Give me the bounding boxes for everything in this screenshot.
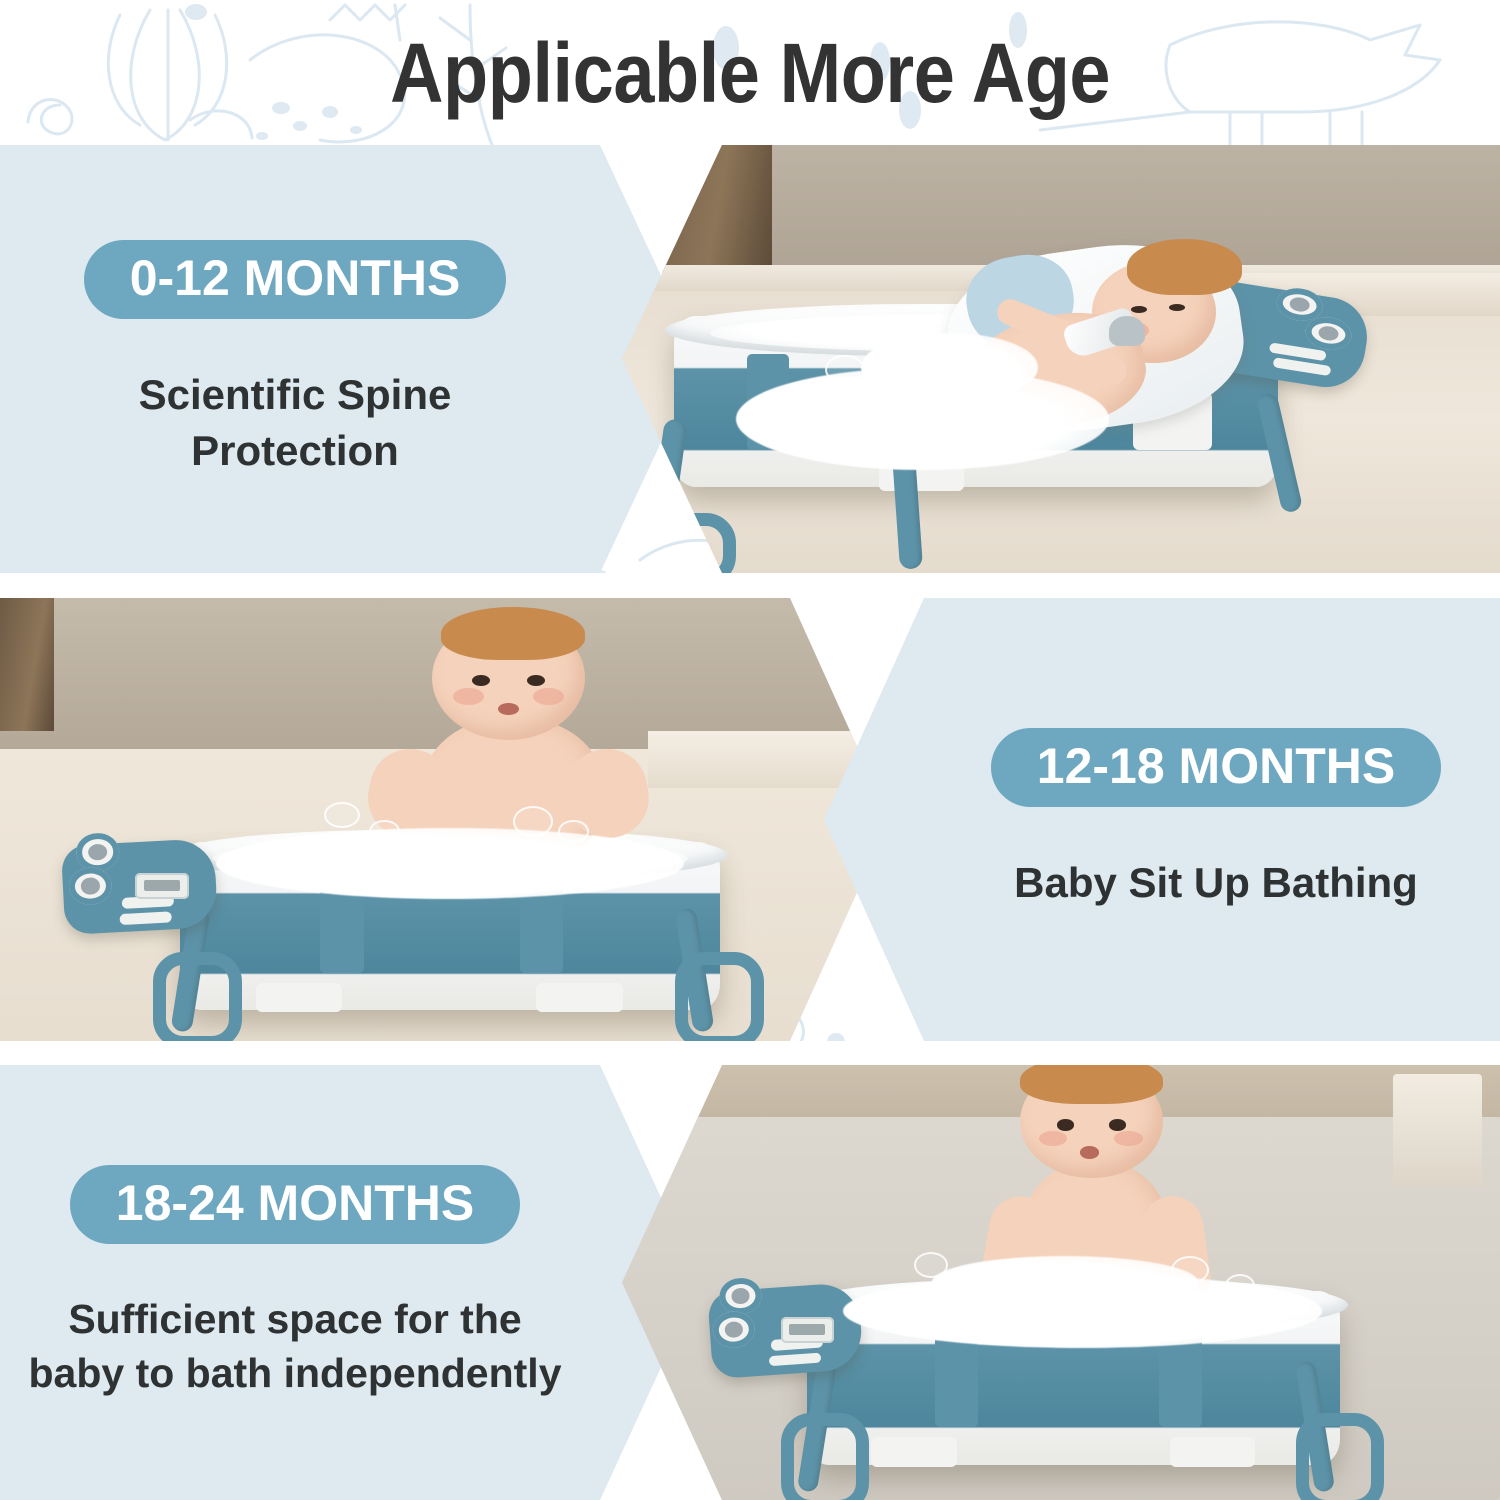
wood-cabinet bbox=[630, 145, 772, 273]
baby-cheek bbox=[453, 688, 484, 705]
baby-hair bbox=[1020, 1065, 1162, 1104]
tub-foot bbox=[781, 1413, 869, 1500]
baby-mouth bbox=[1080, 1146, 1098, 1158]
soap-bubble bbox=[914, 1252, 948, 1278]
frog-slot bbox=[1273, 358, 1332, 377]
furniture-leg bbox=[1393, 1074, 1482, 1187]
frog-slot bbox=[769, 1352, 821, 1366]
baby-cheek bbox=[1039, 1131, 1067, 1147]
bathroom-scene bbox=[612, 1065, 1500, 1500]
bath-foam bbox=[932, 1256, 1198, 1308]
soap-bubble bbox=[941, 393, 998, 436]
baby-hair bbox=[441, 607, 585, 660]
photo-0-12-months bbox=[612, 145, 1500, 573]
baby-hair bbox=[1127, 239, 1242, 295]
text-panel-18-24-months: 18-24 MONTHS Sufficient space for the ba… bbox=[0, 1065, 700, 1500]
soap-bubble bbox=[558, 820, 589, 844]
bathroom-scene bbox=[0, 598, 900, 1041]
thermometer-display bbox=[781, 1317, 834, 1343]
age-badge-18-24-months: 18-24 MONTHS bbox=[70, 1165, 520, 1244]
baby-eye bbox=[1131, 306, 1147, 313]
caption-0-12-months: Scientific Spine Protection bbox=[125, 367, 466, 478]
baby-eye bbox=[527, 675, 545, 686]
frog-eye bbox=[76, 832, 121, 871]
frog-eye bbox=[711, 1310, 756, 1349]
soap-bubble bbox=[887, 385, 935, 423]
section-row-0-12-months: 0-12 MONTHS Scientific Spine Protection bbox=[0, 145, 1500, 573]
page-header: Applicable More Age bbox=[0, 0, 1500, 145]
bottle-cap bbox=[1109, 316, 1145, 346]
text-panel-12-18-months: 12-18 MONTHS Baby Sit Up Bathing bbox=[812, 598, 1500, 1041]
baby-cheek bbox=[1114, 1131, 1142, 1147]
section-row-12-18-months: 12-18 MONTHS Baby Sit Up Bathing bbox=[0, 598, 1500, 1041]
row-divider bbox=[0, 573, 1500, 598]
caption-line: Baby Sit Up Bathing bbox=[1014, 855, 1418, 910]
age-badge-0-12-months: 0-12 MONTHS bbox=[84, 240, 507, 319]
tub-white-block bbox=[256, 983, 342, 1012]
soap-bubble bbox=[1225, 1274, 1256, 1297]
caption-line: Protection bbox=[139, 423, 452, 478]
caption-18-24-months: Sufficient space for the baby to bath in… bbox=[14, 1292, 575, 1400]
frog-slot bbox=[119, 911, 172, 924]
tub-white-block bbox=[1170, 1437, 1255, 1467]
baby-mouth bbox=[498, 703, 519, 715]
baby-eye bbox=[472, 675, 490, 686]
age-badge-12-18-months: 12-18 MONTHS bbox=[991, 728, 1441, 807]
frog-eye bbox=[1303, 314, 1354, 353]
bath-foam bbox=[216, 828, 684, 899]
soap-bubble bbox=[825, 355, 865, 385]
bathroom-scene bbox=[612, 145, 1500, 573]
soap-bubble bbox=[513, 806, 553, 837]
row-divider bbox=[0, 1041, 1500, 1065]
caption-line: Sufficient space for the bbox=[28, 1292, 561, 1346]
frog-eye bbox=[68, 866, 113, 905]
caption-line: Scientific Spine bbox=[139, 367, 452, 422]
baby-cheek bbox=[533, 688, 564, 705]
thermometer-display bbox=[135, 873, 189, 900]
soap-bubble bbox=[324, 802, 360, 828]
baby-eye bbox=[1169, 304, 1185, 311]
tub-foot bbox=[153, 952, 242, 1041]
tub-white-block bbox=[871, 1437, 956, 1467]
baby-eye bbox=[1057, 1119, 1074, 1130]
soap-bubble bbox=[369, 820, 400, 844]
tub-foot bbox=[1296, 1413, 1384, 1500]
wood-cabinet bbox=[0, 598, 54, 731]
page-title: Applicable More Age bbox=[390, 31, 1110, 115]
photo-12-18-months bbox=[0, 598, 900, 1041]
tub-foot bbox=[630, 513, 736, 573]
baby-eye bbox=[1109, 1119, 1126, 1130]
photo-18-24-months bbox=[612, 1065, 1500, 1500]
section-row-18-24-months: 18-24 MONTHS Sufficient space for the ba… bbox=[0, 1065, 1500, 1500]
bath-foam bbox=[861, 333, 1039, 401]
text-panel-0-12-months: 0-12 MONTHS Scientific Spine Protection bbox=[0, 145, 700, 573]
caption-line: baby to bath independently bbox=[28, 1346, 561, 1400]
tub-white-block bbox=[536, 983, 622, 1012]
caption-12-18-months: Baby Sit Up Bathing bbox=[1000, 855, 1432, 910]
tub-foot bbox=[675, 952, 764, 1041]
